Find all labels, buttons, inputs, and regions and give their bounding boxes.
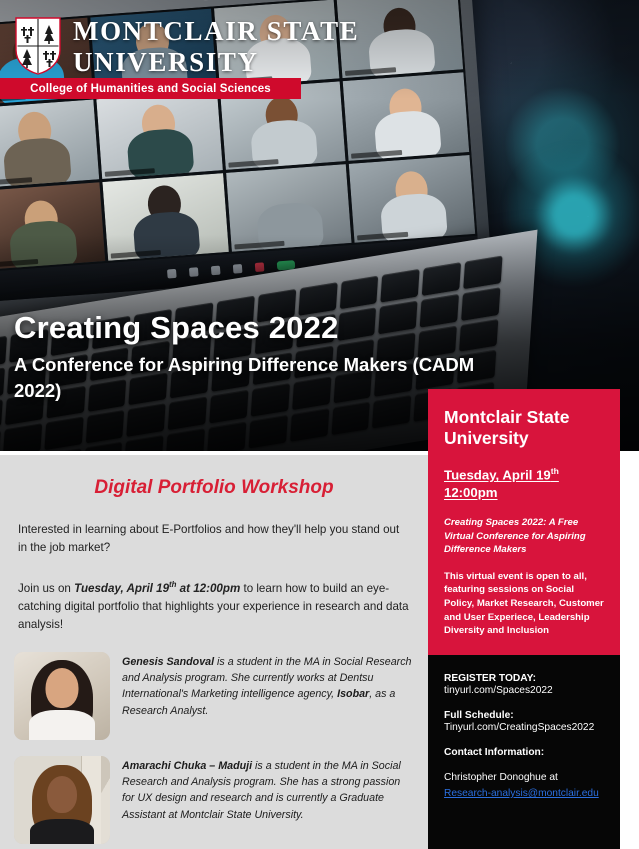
sidebar-event-description: This virtual event is open to all, featu… bbox=[444, 570, 604, 638]
university-wordmark: MONTCLAIR STATE UNIVERSITY bbox=[73, 16, 359, 76]
join-time: at 12:00pm bbox=[176, 582, 240, 595]
speaker-1-headshot bbox=[14, 652, 110, 740]
college-banner: College of Humanities and Social Science… bbox=[0, 78, 301, 99]
university-logo: MONTCLAIR STATE UNIVERSITY bbox=[14, 16, 359, 76]
register-value[interactable]: tinyurl.com/Spaces2022 bbox=[444, 685, 620, 696]
speaker-2-name: Amarachi Chuka – Maduji bbox=[122, 760, 252, 772]
sidebar-date-line2: 12:00pm bbox=[444, 485, 498, 500]
main-content: Digital Portfolio Workshop Interested in… bbox=[0, 455, 428, 849]
schedule-group: Full Schedule: Tinyurl.com/CreatingSpace… bbox=[444, 710, 620, 733]
register-group: REGISTER TODAY: tinyurl.com/Spaces2022 bbox=[444, 655, 620, 696]
event-subtitle: A Conference for Aspiring Difference Mak… bbox=[14, 352, 484, 403]
join-paragraph: Join us on Tuesday, April 19th at 12:00p… bbox=[18, 579, 410, 634]
contact-heading: Contact Information: bbox=[444, 747, 620, 758]
intro-paragraph: Interested in learning about E-Portfolio… bbox=[18, 521, 410, 557]
msu-shield-icon bbox=[14, 16, 62, 76]
speaker-1-bio-text: Genesis Sandoval is a student in the MA … bbox=[122, 652, 414, 719]
speaker-1-name: Genesis Sandoval bbox=[122, 656, 214, 668]
wordmark-line-1: MONTCLAIR STATE bbox=[73, 18, 359, 45]
schedule-heading: Full Schedule: bbox=[444, 710, 620, 721]
contact-details: Christopher Donoghue at Research-analysi… bbox=[444, 772, 620, 801]
join-date: Tuesday, April 19 bbox=[74, 582, 169, 595]
schedule-value[interactable]: Tinyurl.com/CreatingSpaces2022 bbox=[444, 722, 620, 733]
sidebar-org-name: Montclair State University bbox=[444, 407, 604, 450]
event-title: Creating Spaces 2022 bbox=[14, 310, 339, 346]
contact-name: Christopher Donoghue at bbox=[444, 772, 620, 783]
speaker-bio-1: Genesis Sandoval is a student in the MA … bbox=[14, 652, 414, 740]
contact-group: Contact Information: bbox=[444, 747, 620, 758]
workshop-title: Digital Portfolio Workshop bbox=[0, 477, 428, 499]
speaker-bio-2: Amarachi Chuka – Maduji is a student in … bbox=[14, 756, 414, 844]
contact-email-link[interactable]: Research-analysis@montclair.edu bbox=[444, 788, 599, 799]
sidebar-event-tagline: Creating Spaces 2022: A Free Virtual Con… bbox=[444, 516, 604, 557]
speaker-2-headshot bbox=[14, 756, 110, 844]
sidebar-date: Tuesday, April 19th 12:00pm bbox=[444, 466, 604, 502]
sidebar-date-sup: th bbox=[551, 466, 559, 476]
join-prefix: Join us on bbox=[18, 582, 74, 595]
speaker-2-bio-text: Amarachi Chuka – Maduji is a student in … bbox=[122, 756, 414, 823]
register-heading: REGISTER TODAY: bbox=[444, 673, 620, 684]
wordmark-line-2: UNIVERSITY bbox=[73, 49, 359, 76]
sidebar-black-panel: REGISTER TODAY: tinyurl.com/Spaces2022 F… bbox=[428, 655, 620, 849]
speaker-1-org: Isobar bbox=[337, 688, 369, 700]
college-banner-label: College of Humanities and Social Science… bbox=[30, 83, 271, 95]
sidebar-date-line1: Tuesday, April 19 bbox=[444, 467, 551, 482]
hero-banner: MONTCLAIR STATE UNIVERSITY College of Hu… bbox=[0, 0, 639, 451]
sidebar-red-panel: Montclair State University Tuesday, Apri… bbox=[428, 389, 620, 655]
